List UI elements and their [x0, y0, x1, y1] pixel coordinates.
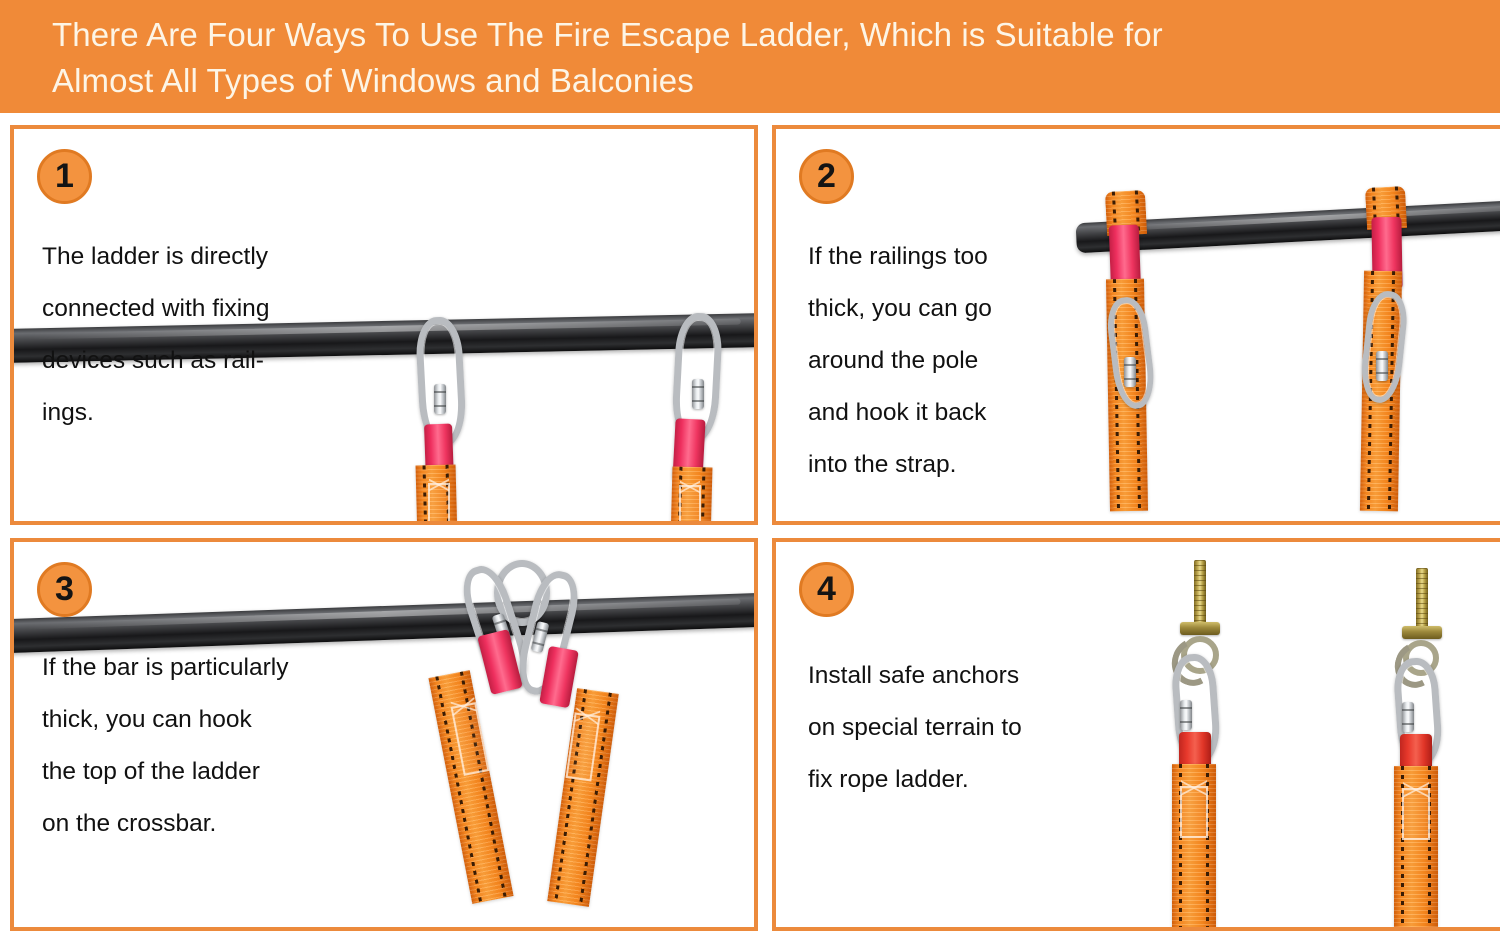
strap-stitch-patch	[679, 485, 701, 525]
step-badge-4: 4	[799, 562, 854, 617]
carabiner-lock-icon	[1180, 700, 1192, 730]
anchor-bolt-shaft-icon	[1194, 560, 1206, 630]
strap-stitch-patch	[1180, 786, 1208, 838]
carabiner-lock-icon	[1376, 351, 1388, 381]
anchor-bolt-shaft-icon	[1416, 568, 1428, 630]
carabiner-lock-icon	[1124, 357, 1136, 387]
carabiner-lock-icon	[692, 379, 704, 409]
panel-step-3: 3 If the bar is particularly thick, you …	[10, 538, 758, 931]
panel-step-2: 2 If the railings too thick, you can go …	[772, 125, 1500, 525]
carabiner-lock-icon	[1402, 702, 1414, 732]
panel-step-4: 4 Install safe anchors on special terrai…	[772, 538, 1500, 931]
step-number: 3	[55, 572, 74, 606]
header-banner: There Are Four Ways To Use The Fire Esca…	[0, 0, 1500, 113]
step-caption-3: If the bar is particularly thick, you ca…	[42, 642, 372, 850]
anchor-hex-nut-icon	[1402, 626, 1442, 639]
panel-grid: 1 The ladder is directly connected with …	[10, 125, 1492, 918]
step-number: 2	[817, 159, 836, 193]
step-caption-1: The ladder is directly connected with fi…	[42, 231, 362, 439]
infographic-page: There Are Four Ways To Use The Fire Esca…	[0, 0, 1500, 928]
step-badge-2: 2	[799, 149, 854, 204]
carabiner-lock-icon	[434, 384, 446, 414]
anchor-hex-nut-icon	[1180, 622, 1220, 635]
panel-step-1: 1 The ladder is directly connected with …	[10, 125, 758, 525]
page-title: There Are Four Ways To Use The Fire Esca…	[52, 10, 1163, 104]
step-badge-3: 3	[37, 562, 92, 617]
step-caption-4: Install safe anchors on special terrain …	[808, 650, 1118, 806]
step-number: 1	[55, 159, 74, 193]
strap-stitch-patch	[1402, 788, 1430, 840]
step-number: 4	[817, 572, 836, 606]
strap-stitch-patch	[428, 483, 450, 525]
step-caption-2: If the railings too thick, you can go ar…	[808, 231, 1108, 491]
step-badge-1: 1	[37, 149, 92, 204]
